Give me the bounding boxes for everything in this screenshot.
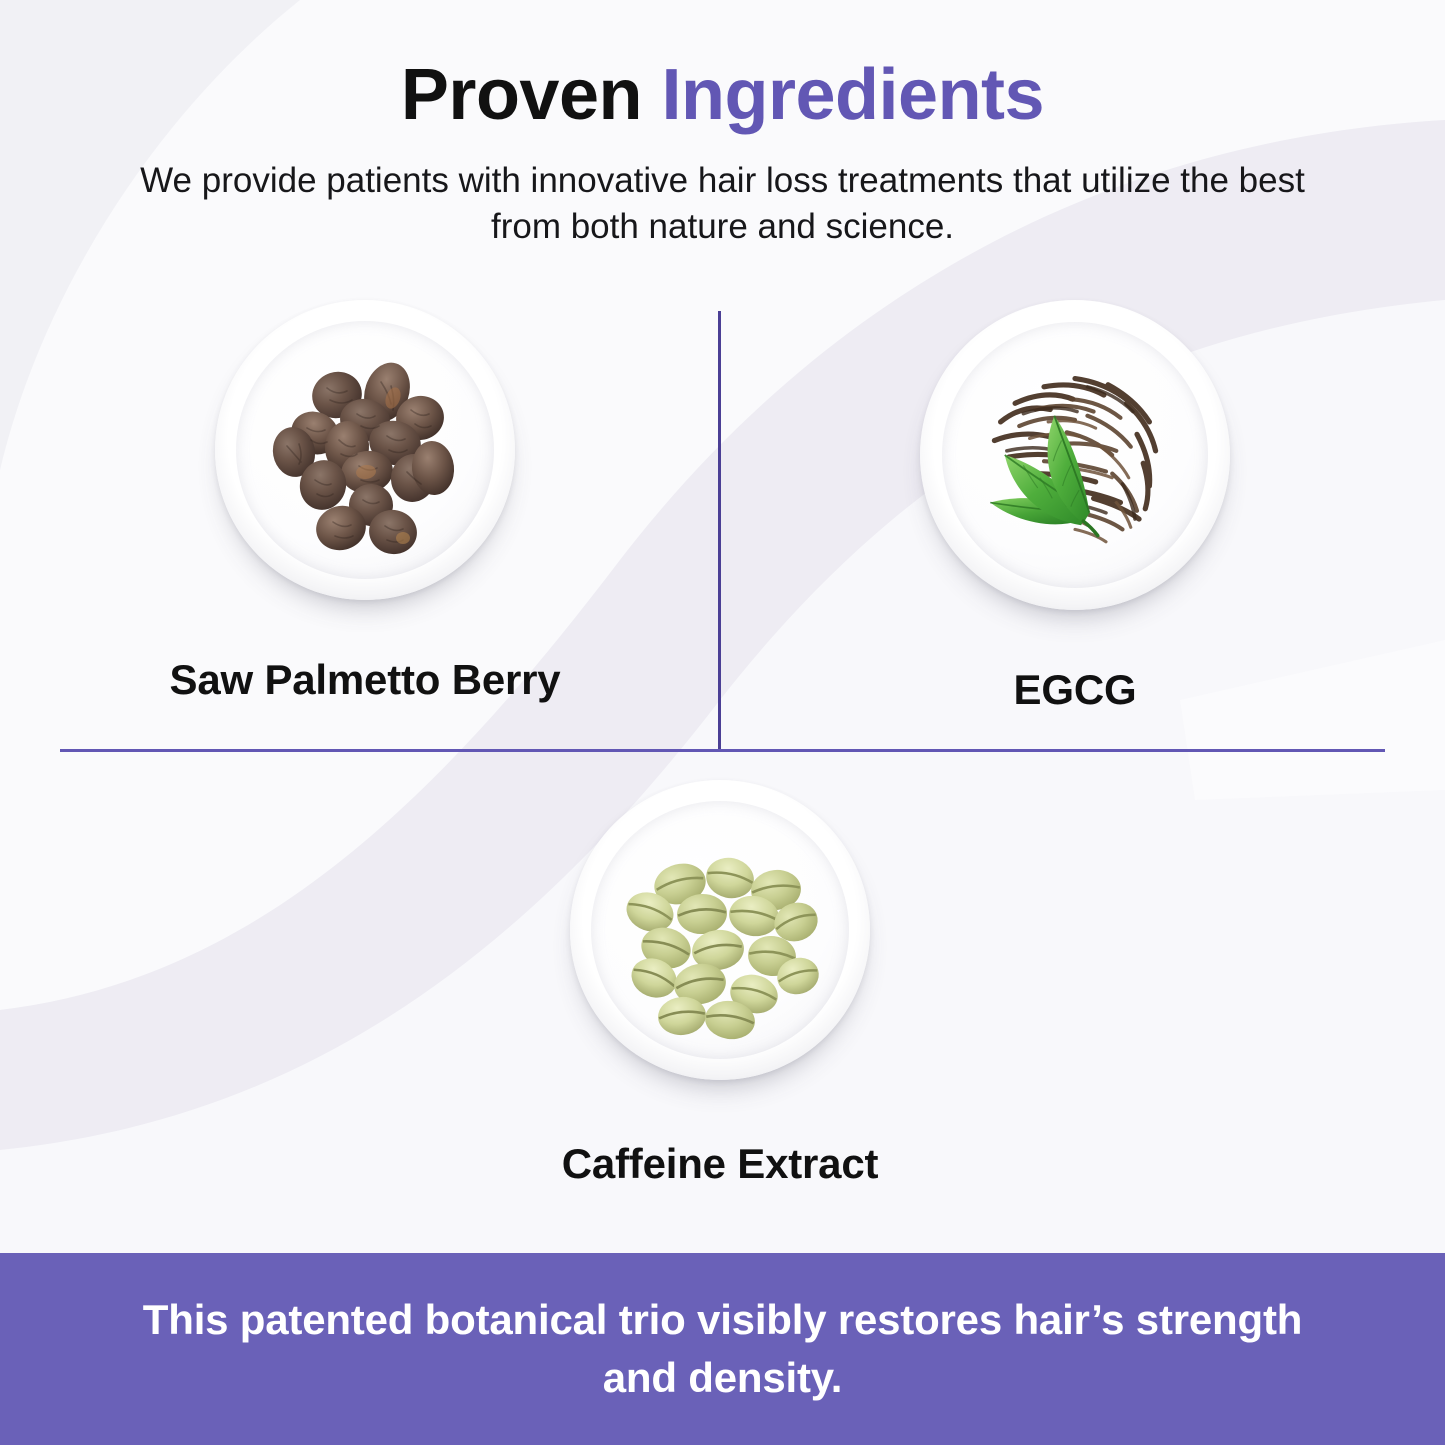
bottom-banner: This patented botanical trio visibly res… <box>0 1253 1445 1445</box>
horizontal-divider <box>60 749 1385 752</box>
ingredient-card-saw-palmetto-berry: Saw Palmetto Berry <box>60 300 670 704</box>
page-title-part1: Proven <box>401 55 642 135</box>
petri-dish-contents <box>215 300 515 600</box>
ingredient-card-caffeine-extract: Caffeine Extract <box>415 780 1025 1188</box>
saw-palmetto-berries-illustration <box>215 300 515 600</box>
ingredient-label: Saw Palmetto Berry <box>60 656 670 704</box>
page-subtitle: We provide patients with innovative hair… <box>103 158 1343 252</box>
petri-dish-green-tea-icon <box>920 300 1230 610</box>
page-title-part2: Ingredients <box>662 55 1045 135</box>
ingredient-card-egcg: EGCG <box>770 300 1380 714</box>
green-coffee-beans-illustration <box>570 780 870 1080</box>
banner-text: This patented botanical trio visibly res… <box>133 1291 1313 1407</box>
petri-dish-saw-palmetto-berries-icon <box>215 300 515 600</box>
ingredients-infographic: Proven Ingredients We provide patients w… <box>0 0 1445 1445</box>
green-tea-illustration <box>920 300 1230 610</box>
ingredient-label: Caffeine Extract <box>415 1140 1025 1188</box>
petri-dish-contents <box>570 780 870 1080</box>
petri-dish-green-coffee-beans-icon <box>570 780 870 1080</box>
header: Proven Ingredients We provide patients w… <box>0 58 1445 251</box>
ingredient-label: EGCG <box>770 666 1380 714</box>
vertical-divider <box>718 311 721 749</box>
page-title: Proven Ingredients <box>0 58 1445 134</box>
petri-dish-contents <box>920 300 1230 610</box>
